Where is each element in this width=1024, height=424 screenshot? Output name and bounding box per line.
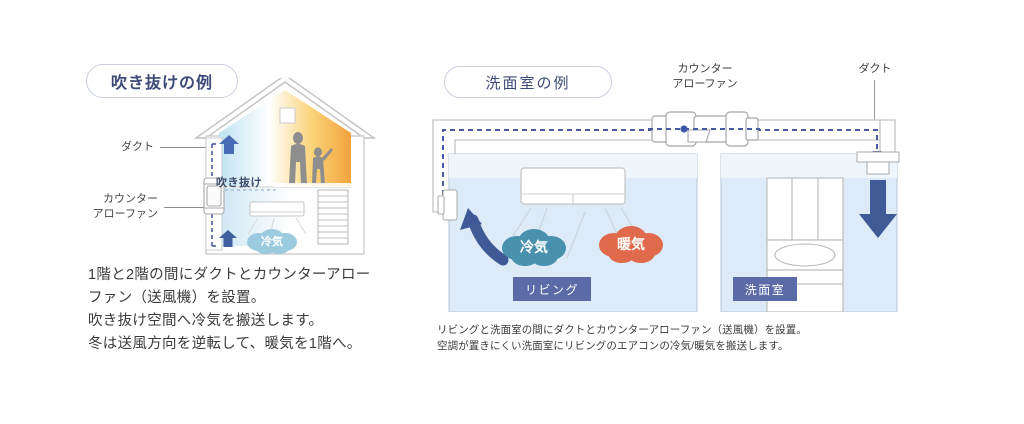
counter-arrow-fan-unit	[648, 108, 760, 155]
label-fan-left-line2: アローファン	[76, 207, 158, 222]
cool-air-cloud-living: 冷気	[499, 227, 569, 267]
room-label-washroom: 洗面室	[733, 277, 797, 301]
warm-air-cloud-living-text: 暖気	[617, 234, 645, 254]
left-caption-line-4: 冬は送風方向を逆転して、暖気を1階へ。	[88, 333, 418, 356]
cool-air-cloud-house: 冷気	[244, 228, 300, 254]
left-caption-line-3: 吹き抜け空間へ冷気を搬送します。	[88, 310, 418, 333]
arrow-up-bottom-house	[218, 230, 238, 253]
cool-air-cloud-house-text: 冷気	[261, 233, 283, 249]
label-fan-right-line2: アローファン	[655, 77, 755, 92]
cool-air-cloud-living-text: 冷気	[520, 237, 548, 257]
label-duct-left: ダクト	[96, 140, 154, 155]
right-caption-line-2: 空調が置きにくい洗面室にリビングのエアコンの冷気/暖気を搬送します。	[437, 338, 857, 354]
warm-air-cloud-living: 暖気	[596, 224, 666, 264]
room-label-washroom-text: 洗面室	[745, 281, 786, 298]
label-fan-right-line1: カウンター	[655, 62, 755, 77]
room-label-living-text: リビング	[525, 281, 579, 298]
right-caption-line-1: リビングと洗面室の間にダクトとカウンターアローファン（送風機）を設置。	[437, 322, 857, 338]
right-caption: リビングと洗面室の間にダクトとカウンターアローファン（送風機）を設置。 空調が置…	[437, 322, 857, 354]
left-caption: 1階と2階の間にダクトとカウンターアロー ファン（送風機）を設置。 吹き抜け空間…	[88, 264, 418, 356]
left-caption-line-1: 1階と2階の間にダクトとカウンターアロー	[88, 264, 418, 287]
left-caption-line-2: ファン（送風機）を設置。	[88, 287, 418, 310]
room-label-living: リビング	[513, 277, 591, 301]
atrium-label: 吹き抜け	[216, 174, 262, 190]
label-fan-left-line1: カウンター	[76, 192, 158, 207]
label-duct-right: ダクト	[845, 62, 905, 77]
right-panel-title-pill: 洗面室の例	[444, 66, 612, 98]
arrow-up-top-house	[218, 135, 240, 160]
right-panel-title: 洗面室の例	[485, 72, 570, 93]
